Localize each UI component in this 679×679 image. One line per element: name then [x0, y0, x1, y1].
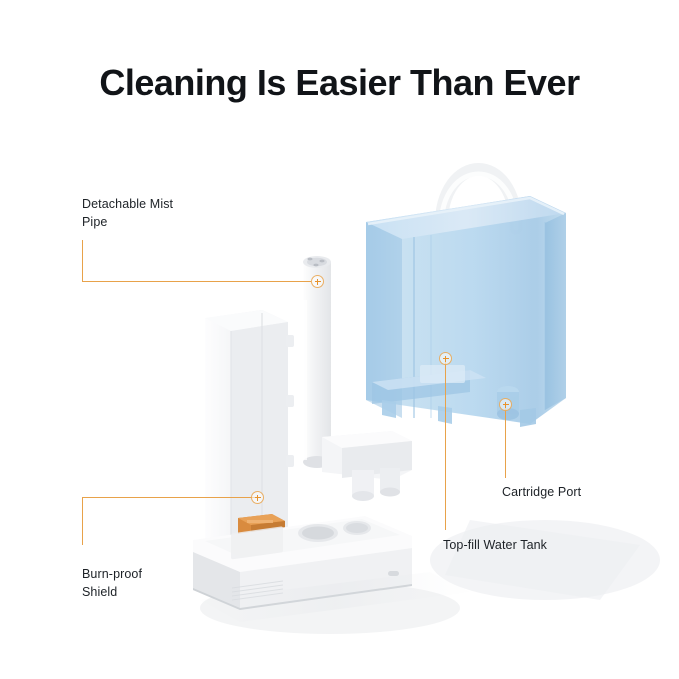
leader-line-mist-pipe-vertical [82, 240, 83, 282]
leader-line-water-tank-vertical [445, 358, 446, 530]
leader-line-cartridge-port-vertical [505, 404, 506, 478]
leader-line-burn-proof-horizontal [82, 497, 257, 498]
callout-label-top-fill-water-tank: Top-fill Water Tank [443, 536, 547, 554]
callout-label-detachable-mist-pipe: Detachable Mist Pipe [82, 195, 173, 231]
leader-line-burn-proof-vertical [82, 497, 83, 545]
callout-label-burn-proof-shield: Burn-proof Shield [82, 565, 142, 601]
plus-hotspot-cartridge-port[interactable] [499, 398, 512, 411]
plus-hotspot-mist-pipe[interactable] [311, 275, 324, 288]
plus-hotspot-burn-proof-shield[interactable] [251, 491, 264, 504]
product-feature-diagram: Cleaning Is Easier Than Ever [0, 0, 679, 679]
callout-label-cartridge-port: Cartridge Port [502, 483, 581, 501]
plus-hotspot-water-tank[interactable] [439, 352, 452, 365]
leader-line-mist-pipe-horizontal [82, 281, 311, 282]
